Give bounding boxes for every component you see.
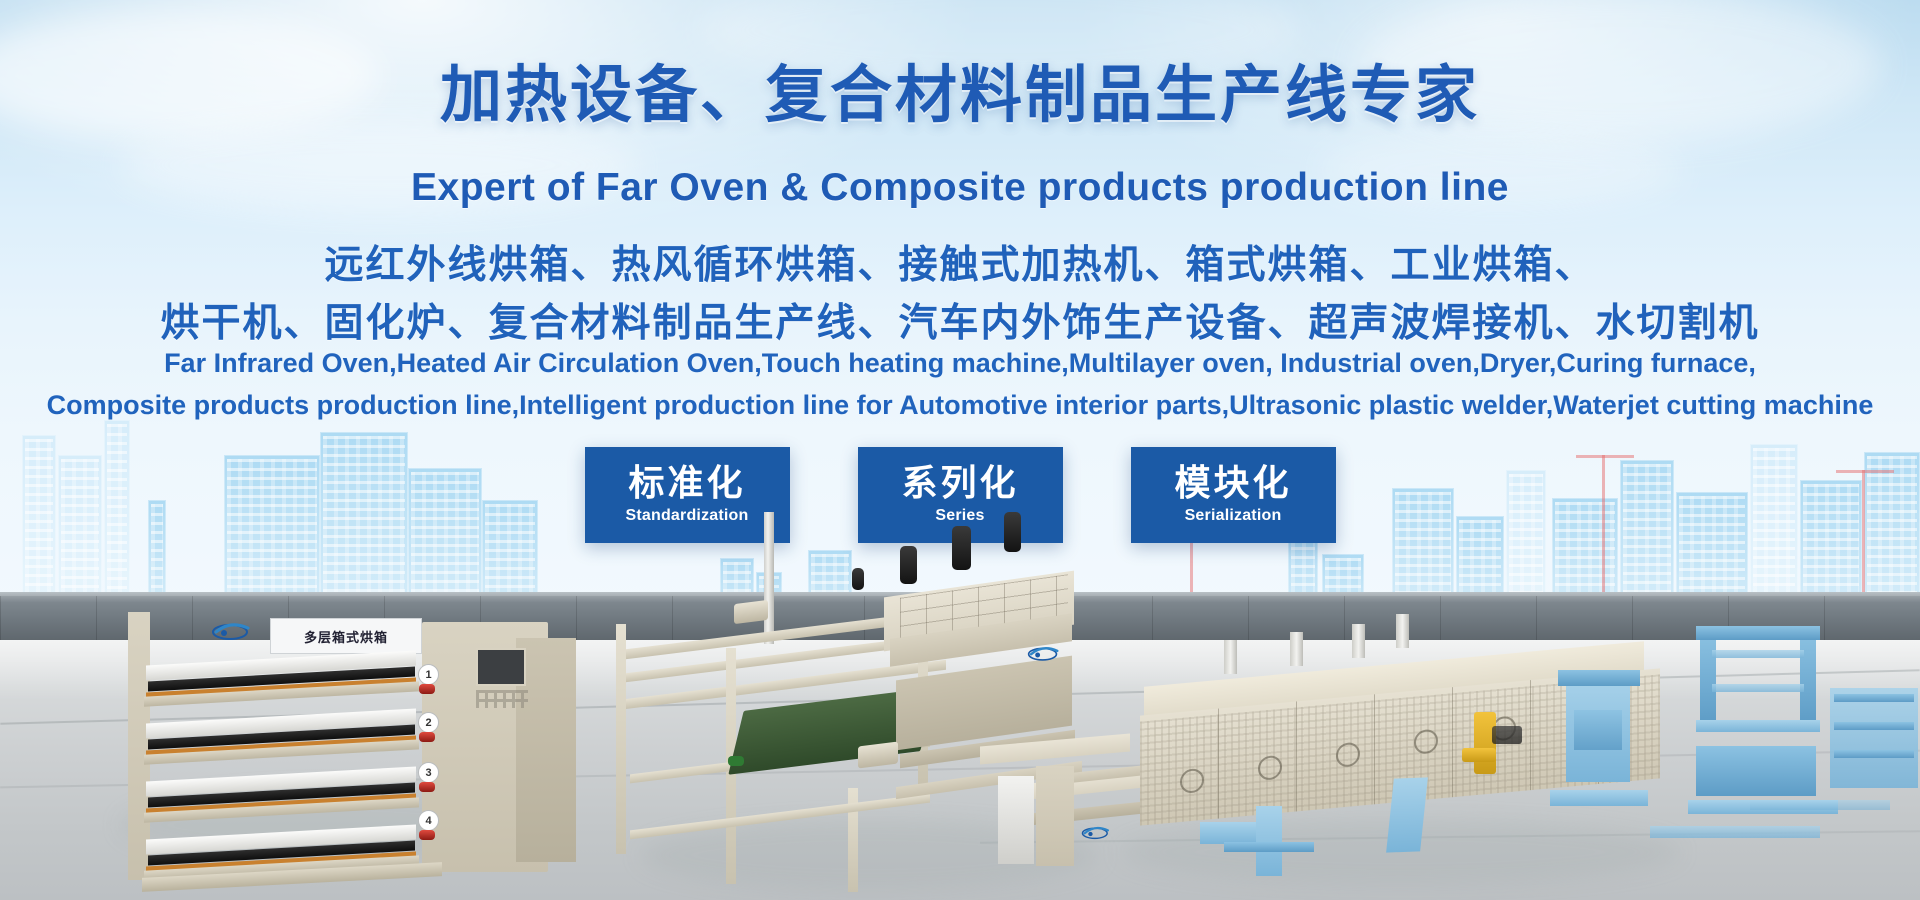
indicator-lamp-icon bbox=[419, 732, 435, 742]
line-rail bbox=[1650, 826, 1820, 838]
oven-indicator-number: 1 bbox=[418, 664, 439, 685]
badge-label-en: Standardization bbox=[625, 507, 748, 525]
oven-tray bbox=[146, 774, 416, 814]
line-enclosure bbox=[1830, 688, 1918, 788]
exhaust-stack bbox=[1396, 614, 1409, 648]
press-piston bbox=[900, 546, 917, 584]
headline-english: Expert of Far Oven & Composite products … bbox=[0, 166, 1920, 210]
press-platen bbox=[1574, 710, 1622, 750]
badge-standardization[interactable]: 标准化 Standardization bbox=[585, 447, 790, 543]
oven-indicator-3: 3 bbox=[418, 762, 452, 796]
belt-roller-icon bbox=[728, 756, 744, 766]
badge-label-en: Serialization bbox=[1185, 507, 1282, 525]
press-piston bbox=[852, 568, 864, 590]
indicator-lamp-icon bbox=[419, 684, 435, 694]
machine-automation-line bbox=[1500, 650, 1920, 900]
line-rail bbox=[1224, 842, 1314, 852]
robot-base bbox=[1462, 748, 1496, 762]
oven-nameplate-text: 多层箱式烘箱 bbox=[304, 627, 388, 646]
line-panel bbox=[1256, 806, 1282, 876]
headline-chinese: 加热设备、复合材料制品生产线专家 bbox=[0, 62, 1920, 127]
oven-indicator-4: 4 bbox=[418, 810, 452, 844]
badge-label-cn: 标准化 bbox=[628, 465, 745, 504]
oven-tray bbox=[146, 658, 416, 698]
indicator-lamp-icon bbox=[419, 830, 435, 840]
line-conveyor bbox=[1200, 822, 1256, 844]
product-list-english-line-1: Far Infrared Oven,Heated Air Circulation… bbox=[0, 348, 1920, 379]
frame-beam bbox=[630, 794, 930, 840]
exhaust-stack bbox=[1224, 640, 1237, 674]
line-rail bbox=[1834, 750, 1914, 758]
exhaust-stack bbox=[1290, 632, 1303, 666]
drive-motor bbox=[858, 742, 898, 769]
robot-joint bbox=[1492, 726, 1522, 744]
line-rail bbox=[1750, 800, 1890, 810]
line-beam bbox=[1712, 684, 1804, 692]
badge-label-en: Series bbox=[935, 507, 984, 525]
oven-door-panel bbox=[1036, 766, 1074, 866]
oven-indicator-number: 3 bbox=[418, 762, 439, 783]
brand-logo-icon bbox=[1026, 646, 1064, 664]
press-piston bbox=[952, 526, 971, 570]
oven-tray bbox=[146, 716, 416, 756]
line-cabinet bbox=[1696, 746, 1816, 796]
product-list-chinese-line-2: 烘干机、固化炉、复合材料制品生产线、汽车内外饰生产设备、超声波焊接机、水切割机 bbox=[0, 292, 1920, 348]
line-column bbox=[1800, 632, 1816, 724]
exhaust-stack bbox=[1352, 624, 1365, 658]
banner-stage: 加热设备、复合材料制品生产线专家 Expert of Far Oven & Co… bbox=[0, 0, 1920, 900]
press-piston bbox=[1004, 512, 1021, 552]
drive-motor bbox=[734, 600, 768, 624]
indicator-lamp-icon bbox=[419, 782, 435, 792]
oven-indicator-2: 2 bbox=[418, 712, 452, 746]
oven-indicator-1: 1 bbox=[418, 664, 452, 698]
line-rail bbox=[1834, 694, 1914, 702]
line-rail bbox=[1834, 722, 1914, 730]
machine-multilayer-box-oven: 多层箱式烘箱 1 2 3 4 bbox=[128, 612, 548, 890]
brand-logo-icon bbox=[1080, 826, 1114, 842]
product-list-english-line-2: Composite products production line,Intel… bbox=[0, 390, 1920, 421]
oven-hmi-screen[interactable] bbox=[476, 648, 526, 686]
line-beam bbox=[1696, 720, 1820, 732]
badge-label-cn: 系列化 bbox=[901, 465, 1018, 504]
brand-logo-icon bbox=[210, 622, 256, 644]
oven-control-box bbox=[998, 776, 1034, 864]
line-top-beam bbox=[1696, 626, 1820, 640]
badge-serialization[interactable]: 模块化 Serialization bbox=[1131, 447, 1336, 543]
oven-nameplate: 多层箱式烘箱 bbox=[270, 618, 422, 654]
oven-indicator-number: 4 bbox=[418, 810, 439, 831]
line-beam bbox=[1712, 650, 1804, 658]
press-bed bbox=[1550, 790, 1648, 806]
product-list-chinese-line-1: 远红外线烘箱、热风循环烘箱、接触式加热机、箱式烘箱、工业烘箱、 bbox=[0, 234, 1920, 290]
oven-indicator-number: 2 bbox=[418, 712, 439, 733]
oven-vent-grille-icon bbox=[476, 690, 528, 708]
press-crown bbox=[1558, 670, 1640, 686]
line-column bbox=[1700, 632, 1716, 724]
badge-label-cn: 模块化 bbox=[1174, 465, 1291, 504]
frame-post bbox=[616, 624, 626, 854]
press-mast bbox=[764, 512, 774, 644]
